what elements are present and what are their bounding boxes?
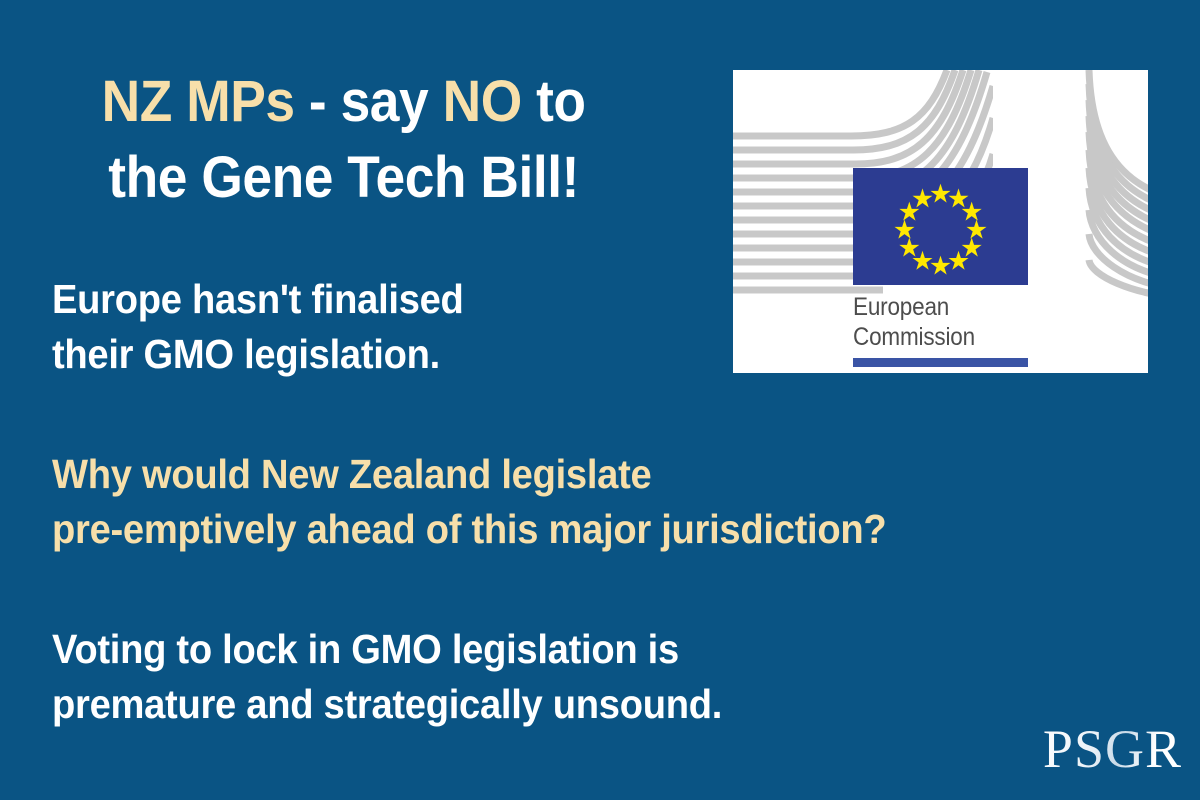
- psgr-logo: PSGR: [1043, 720, 1182, 778]
- statement-line: pre-emptively ahead of this major jurisd…: [52, 502, 886, 557]
- headline-text-to: to: [522, 69, 586, 134]
- statement-why-legislate-pre-emptively: Why would New Zealand legislate pre-empt…: [52, 447, 886, 557]
- swoosh-right-icon: [1081, 70, 1148, 300]
- statement-premature-and-unsound: Voting to lock in GMO legislation is pre…: [52, 622, 722, 732]
- campaign-poster: NZ MPs - say NO to the Gene Tech Bill! E…: [0, 0, 1200, 800]
- logo-underline-rule: [853, 358, 1028, 367]
- wordmark-line-european: European: [853, 292, 975, 322]
- page-title: NZ MPs - say NO to the Gene Tech Bill!: [40, 64, 647, 216]
- statement-europe-not-finalised: Europe hasn't finalised their GMO legisl…: [52, 272, 464, 382]
- statement-line: Voting to lock in GMO legislation is: [52, 622, 722, 677]
- statement-line: their GMO legislation.: [52, 327, 464, 382]
- statement-line: Europe hasn't finalised: [52, 272, 464, 327]
- headline-line-1: NZ MPs - say NO to: [40, 64, 647, 140]
- headline-text-say: - say: [295, 69, 443, 134]
- headline-accent-nz-mps: NZ MPs: [102, 69, 295, 134]
- wordmark-line-commission: Commission: [853, 322, 975, 352]
- headline-line-2: the Gene Tech Bill!: [40, 140, 647, 216]
- european-commission-wordmark: European Commission: [853, 292, 975, 352]
- european-commission-logo: European Commission: [733, 70, 1148, 373]
- headline-accent-no: NO: [443, 69, 522, 134]
- statement-line: premature and strategically unsound.: [52, 677, 722, 732]
- eu-flag-icon: [853, 168, 1028, 285]
- statement-line: Why would New Zealand legislate: [52, 447, 886, 502]
